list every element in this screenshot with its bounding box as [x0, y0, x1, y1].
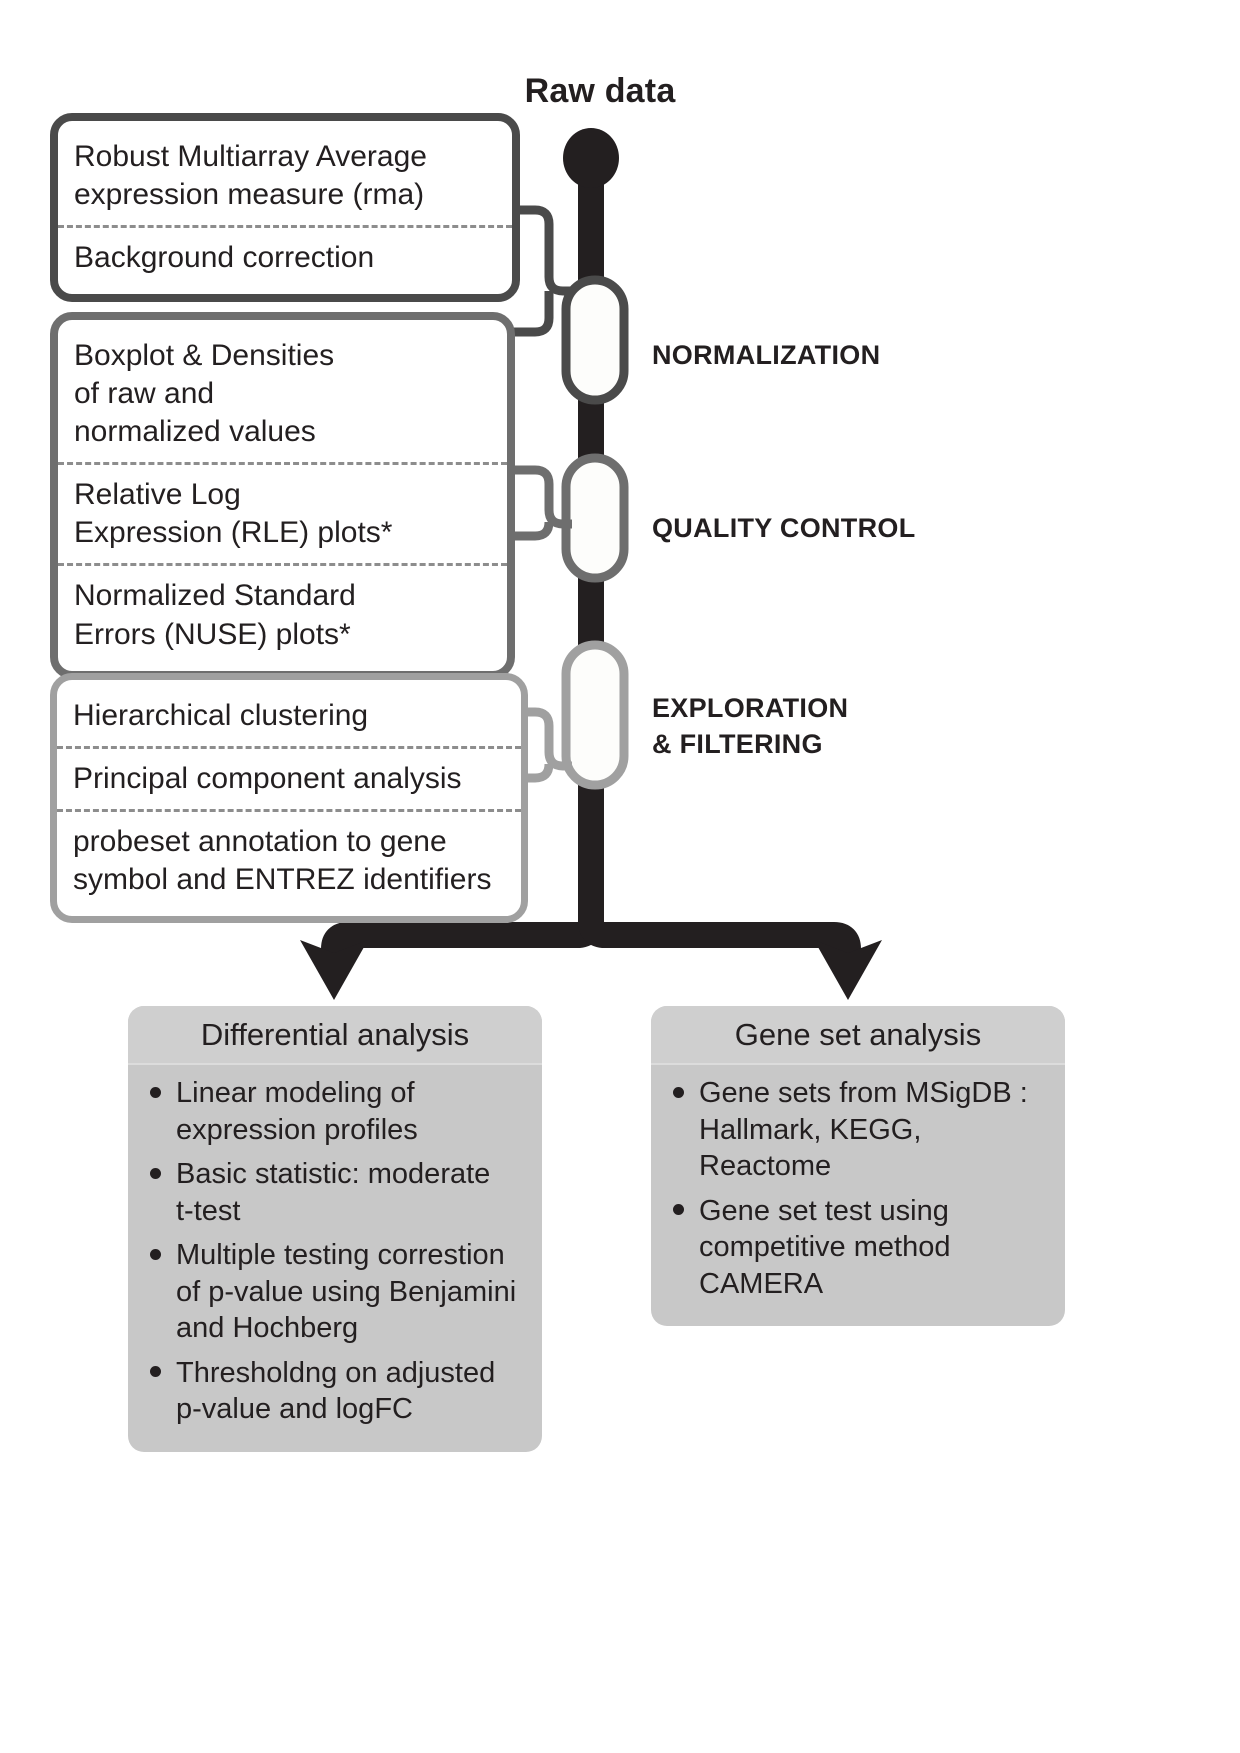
list-item: Gene set test using competitive method C…	[669, 1193, 1051, 1311]
stage-capsule-quality-control	[566, 458, 624, 578]
output-panel-differential-analysis: Differential analysis Linear modeling of…	[128, 1006, 542, 1452]
list-item-text: Multiple testing correstion of p-value u…	[176, 1239, 516, 1344]
bullet-icon	[150, 1168, 161, 1179]
step-box-normalization: Robust Multiarray Average expression mea…	[50, 113, 520, 302]
step-item: Principal component analysis	[57, 746, 521, 809]
spine-segment-3	[578, 775, 604, 905]
spine-segment-1	[578, 395, 604, 470]
panel-title: Gene set analysis	[651, 1006, 1065, 1065]
stage-label-normalization: NORMALIZATION	[652, 337, 880, 373]
panel-bullet-list: Linear modeling of expression profiles B…	[128, 1065, 542, 1452]
stage-label-exploration-filtering: EXPLORATION & FILTERING	[652, 690, 848, 763]
list-item-text: Linear modeling of expression profiles	[176, 1077, 418, 1146]
step-box-exploration-filtering: Hierarchical clustering Principal compon…	[50, 673, 528, 923]
list-item: Gene sets from MSigDB : Hallmark, KEGG, …	[669, 1075, 1051, 1193]
list-item-text: Gene sets from MSigDB : Hallmark, KEGG, …	[699, 1077, 1028, 1182]
list-item: Thresholdng on adjusted p-value and logF…	[146, 1355, 528, 1436]
panel-title: Differential analysis	[128, 1006, 542, 1065]
step-item: Robust Multiarray Average expression mea…	[58, 127, 512, 225]
bullet-icon	[150, 1249, 161, 1260]
branch-right-arm	[591, 905, 848, 957]
bullet-icon	[150, 1087, 161, 1098]
bullet-icon	[150, 1366, 161, 1377]
bullet-icon	[673, 1204, 684, 1215]
list-item: Multiple testing correstion of p-value u…	[146, 1237, 528, 1355]
arrowhead-differential	[300, 940, 368, 1000]
list-item: Linear modeling of expression profiles	[146, 1075, 528, 1156]
step-item: Hierarchical clustering	[57, 686, 521, 746]
raw-data-node	[563, 128, 619, 188]
step-item: Relative Log Expression (RLE) plots*	[58, 462, 507, 563]
step-box-quality-control: Boxplot & Densities of raw and normalize…	[50, 312, 515, 679]
output-panel-gene-set-analysis: Gene set analysis Gene sets from MSigDB …	[651, 1006, 1065, 1326]
stage-label-quality-control: QUALITY CONTROL	[652, 510, 916, 546]
arrowhead-geneset	[814, 940, 882, 1000]
spine-segment-2	[578, 572, 604, 650]
page-title: Raw data	[440, 72, 760, 111]
bullet-icon	[673, 1087, 684, 1098]
spine-segment-top	[578, 160, 604, 310]
stage-capsule-normalization	[566, 280, 624, 400]
list-item-text: Gene set test using competitive method C…	[699, 1195, 950, 1300]
flowchart-canvas: Raw data Robust Multiarray Average expre…	[0, 0, 1240, 1753]
panel-bullet-list: Gene sets from MSigDB : Hallmark, KEGG, …	[651, 1065, 1065, 1326]
step-item: Normalized Standard Errors (NUSE) plots*	[58, 563, 507, 664]
stage-capsule-exploration	[566, 645, 624, 785]
list-item-text: Basic statistic: moderate t-test	[176, 1158, 490, 1227]
connector-quality-control	[506, 470, 572, 524]
step-item: Background correction	[58, 225, 512, 288]
list-item: Basic statistic: moderate t-test	[146, 1156, 528, 1237]
list-item-text: Thresholdng on adjusted p-value and logF…	[176, 1357, 495, 1426]
step-item: probeset annotation to gene symbol and E…	[57, 809, 521, 910]
step-item: Boxplot & Densities of raw and normalize…	[58, 326, 507, 462]
